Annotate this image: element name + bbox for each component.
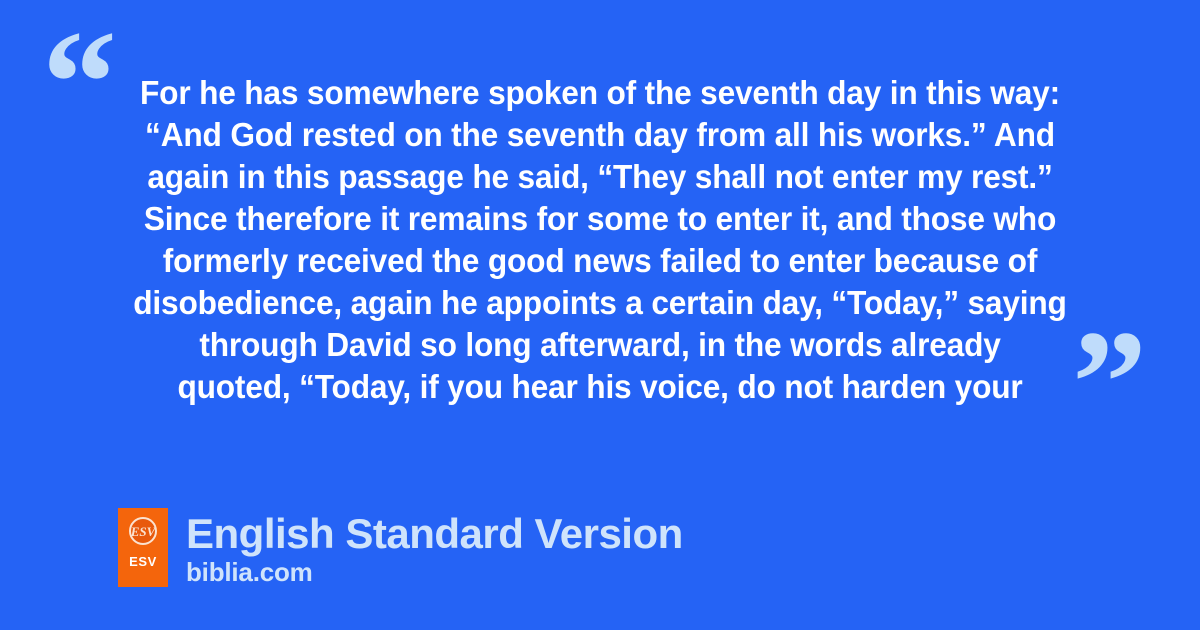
quote-line: Since therefore it remains for some to e… <box>130 198 1071 240</box>
esv-seal-icon: ESV <box>129 517 157 545</box>
esv-logo: ESV ESV <box>118 508 168 587</box>
quote-line: “And God rested on the seventh day from … <box>130 114 1071 156</box>
quote-line: disobedience, again he appoints a certai… <box>130 282 1071 324</box>
quote-card: “ ” For he has somewhere spoken of the s… <box>0 0 1200 630</box>
bible-version-title: English Standard Version <box>186 511 683 557</box>
quote-line: through David so long afterward, in the … <box>130 324 1071 366</box>
quote-line: For he has somewhere spoken of the seven… <box>130 72 1071 114</box>
attribution-text: English Standard Version biblia.com <box>186 508 683 587</box>
opening-quote-icon: “ <box>42 8 115 158</box>
quote-line: formerly received the good news failed t… <box>130 240 1071 282</box>
quote-line: quoted, “Today, if you hear his voice, d… <box>130 366 1071 408</box>
esv-abbreviation-label: ESV <box>129 554 157 569</box>
quote-text-block: For he has somewhere spoken of the seven… <box>110 72 1090 408</box>
esv-seal-monogram: ESV <box>131 525 156 538</box>
quote-line: again in this passage he said, “They sha… <box>130 156 1071 198</box>
source-website-label: biblia.com <box>186 557 683 587</box>
attribution-footer: ESV ESV English Standard Version biblia.… <box>118 508 683 587</box>
